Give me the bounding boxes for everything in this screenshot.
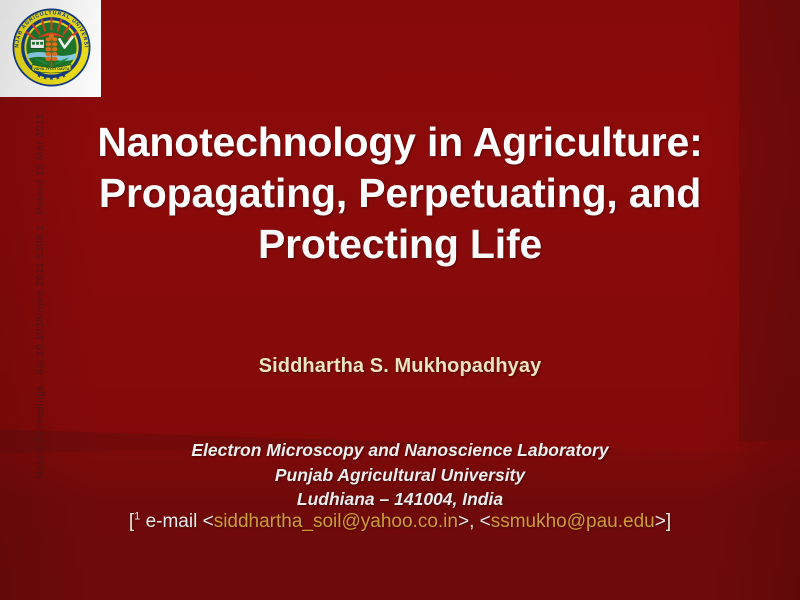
affiliation-line-2: Punjab Agricultural University	[40, 463, 760, 488]
email-address-secondary[interactable]: ssmukho@pau.edu	[491, 511, 655, 532]
presentation-slide: VIDYA JYOTI GAVTA 1962 PUNJAB AGRICULTUR…	[0, 0, 800, 600]
email-address-primary[interactable]: siddhartha_soil@yahoo.co.in	[214, 511, 458, 532]
author-name: Siddhartha S. Mukhopadhyay	[40, 355, 760, 378]
email-close-bracket: >]	[655, 511, 671, 532]
title-line-2: Propagating, Perpetuating, and	[40, 168, 760, 219]
affiliation-line-1: Electron Microscopy and Nanoscience Labo…	[40, 438, 760, 463]
page-title: Nanotechnology in Agriculture: Propagati…	[40, 117, 760, 270]
email-footnote: [1 e-mail <siddhartha_soil@yahoo.co.in>,…	[40, 511, 760, 533]
logo-plate: VIDYA JYOTI GAVTA 1962 PUNJAB AGRICULTUR…	[0, 0, 101, 97]
university-seal-icon: VIDYA JYOTI GAVTA 1962 PUNJAB AGRICULTUR…	[11, 5, 92, 90]
affiliation-line-3: Ludhiana – 141004, India	[40, 487, 760, 512]
email-separator: >, <	[458, 511, 491, 532]
svg-text:VIDYA JYOTI GAVTA: VIDYA JYOTI GAVTA	[33, 67, 69, 71]
affiliation-block: Electron Microscopy and Nanoscience Labo…	[40, 438, 760, 512]
email-label: e-mail <	[140, 511, 213, 532]
title-line-3: Protecting Life	[40, 219, 760, 270]
title-line-1: Nanotechnology in Agriculture:	[40, 117, 760, 168]
